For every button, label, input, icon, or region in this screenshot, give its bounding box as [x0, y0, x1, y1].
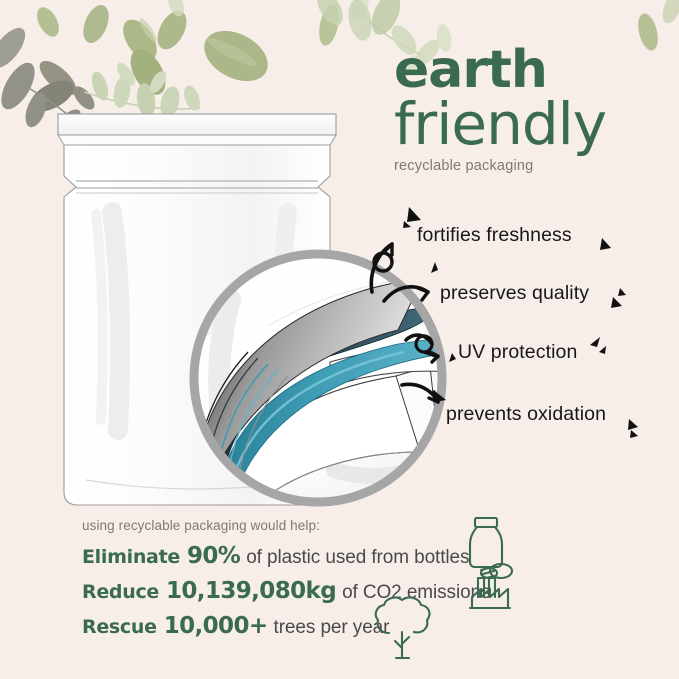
tree-icon: [376, 598, 430, 658]
factory-icon: [470, 564, 512, 608]
stat-icons: [0, 0, 679, 679]
bottle-icon: [470, 518, 502, 567]
poster-canvas: earth friendly recyclable packaging fort…: [0, 0, 679, 679]
